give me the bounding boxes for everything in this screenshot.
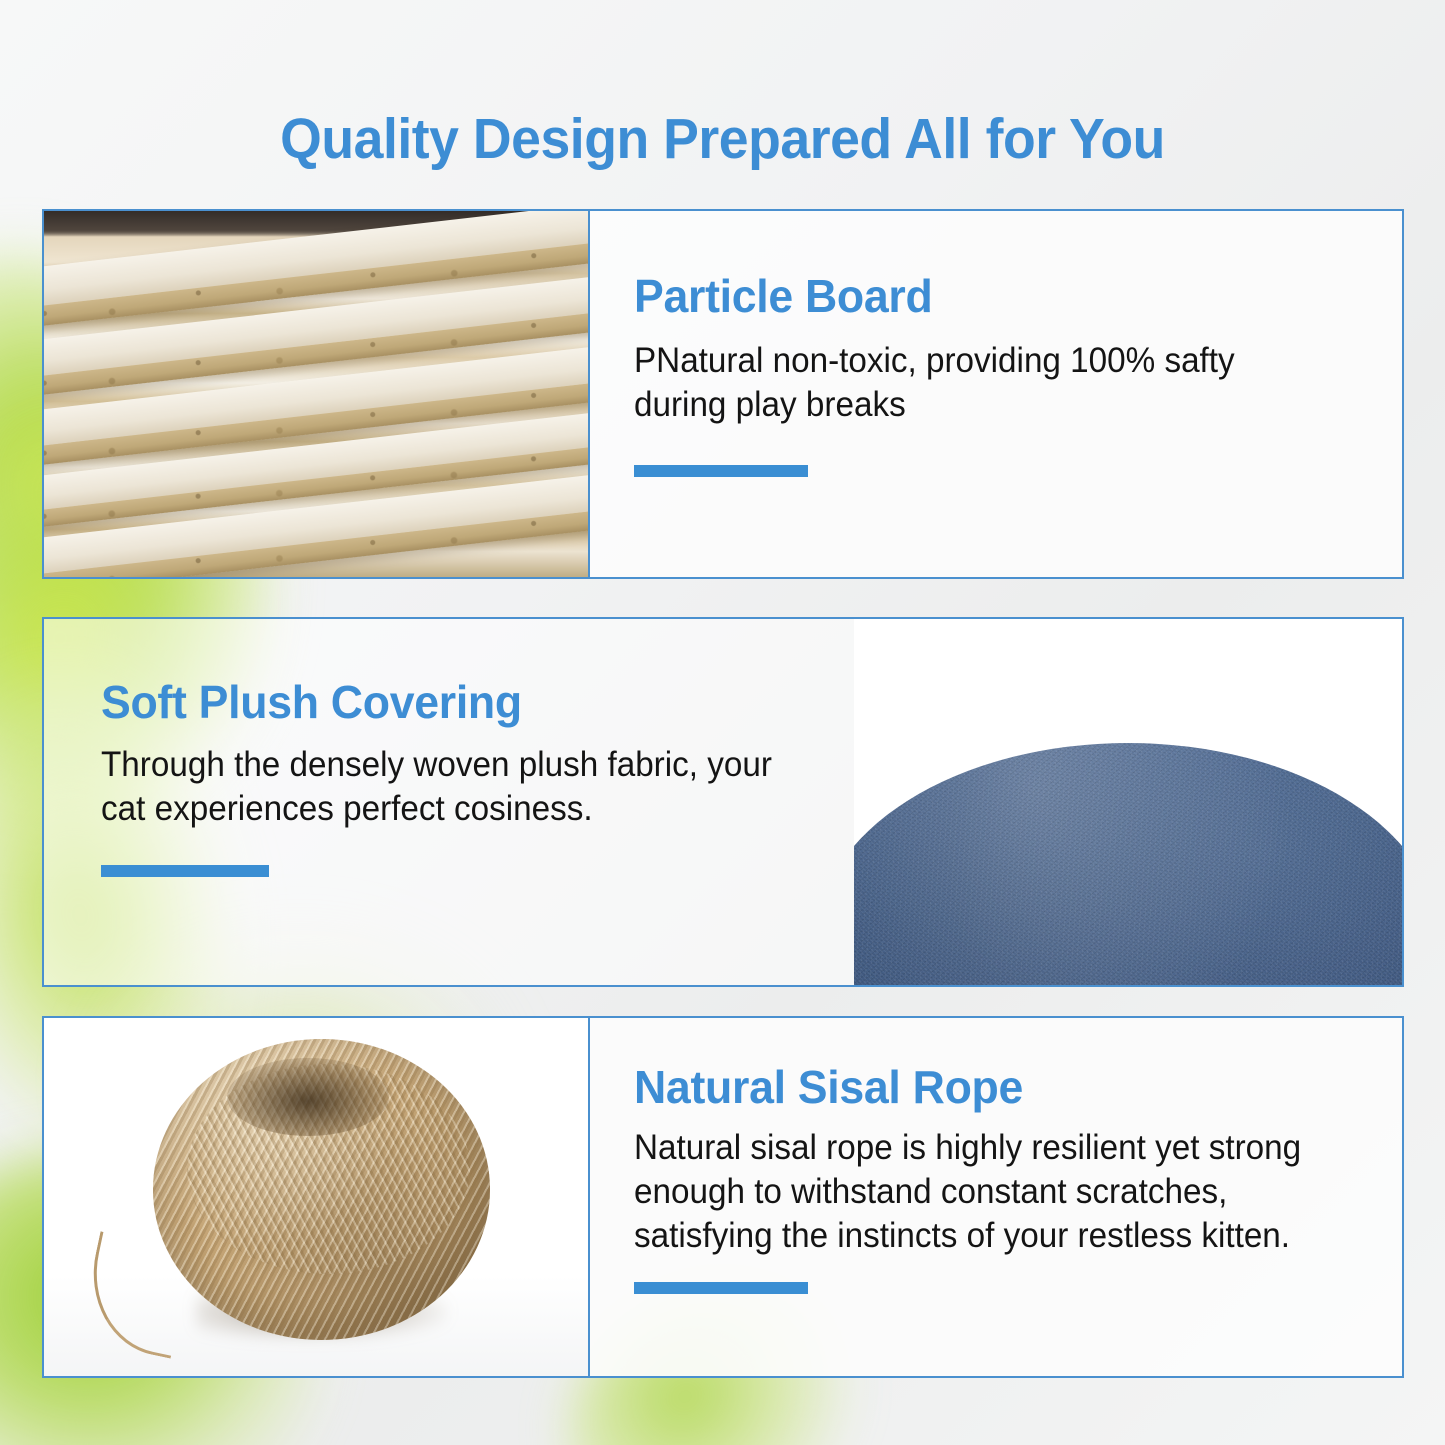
feature-title: Soft Plush Covering bbox=[101, 675, 793, 729]
particle-board-photo bbox=[44, 211, 588, 577]
page-title: Quality Design Prepared All for You bbox=[43, 106, 1401, 172]
card-divider bbox=[588, 1018, 590, 1376]
sisal-rope-text-panel: Natural Sisal Rope Natural sisal rope is… bbox=[588, 1018, 1402, 1376]
soft-plush-text-panel: Soft Plush Covering Through the densely … bbox=[44, 619, 854, 985]
card-divider bbox=[588, 211, 590, 577]
infographic-page: Quality Design Prepared All for You bbox=[0, 0, 1445, 1445]
feature-card-soft-plush-covering: Soft Plush Covering Through the densely … bbox=[42, 617, 1404, 987]
feature-body: PNatural non-toxic, providing 100% safty… bbox=[634, 339, 1307, 427]
feature-title: Particle Board bbox=[634, 269, 1321, 323]
feature-title: Natural Sisal Rope bbox=[634, 1060, 1336, 1114]
feature-card-natural-sisal-rope: Natural Sisal Rope Natural sisal rope is… bbox=[42, 1016, 1404, 1378]
sisal-rope-photo bbox=[44, 1018, 588, 1376]
feature-body: Natural sisal rope is highly resilient y… bbox=[634, 1126, 1322, 1258]
feature-card-particle-board: Particle Board PNatural non-toxic, provi… bbox=[42, 209, 1404, 579]
feature-body: Through the densely woven plush fabric, … bbox=[101, 743, 778, 831]
accent-underline-bar bbox=[101, 865, 269, 877]
accent-underline-bar bbox=[634, 465, 808, 477]
accent-underline-bar bbox=[634, 1282, 808, 1294]
particle-board-text-panel: Particle Board PNatural non-toxic, provi… bbox=[588, 211, 1402, 577]
plush-fabric-photo bbox=[854, 619, 1402, 985]
